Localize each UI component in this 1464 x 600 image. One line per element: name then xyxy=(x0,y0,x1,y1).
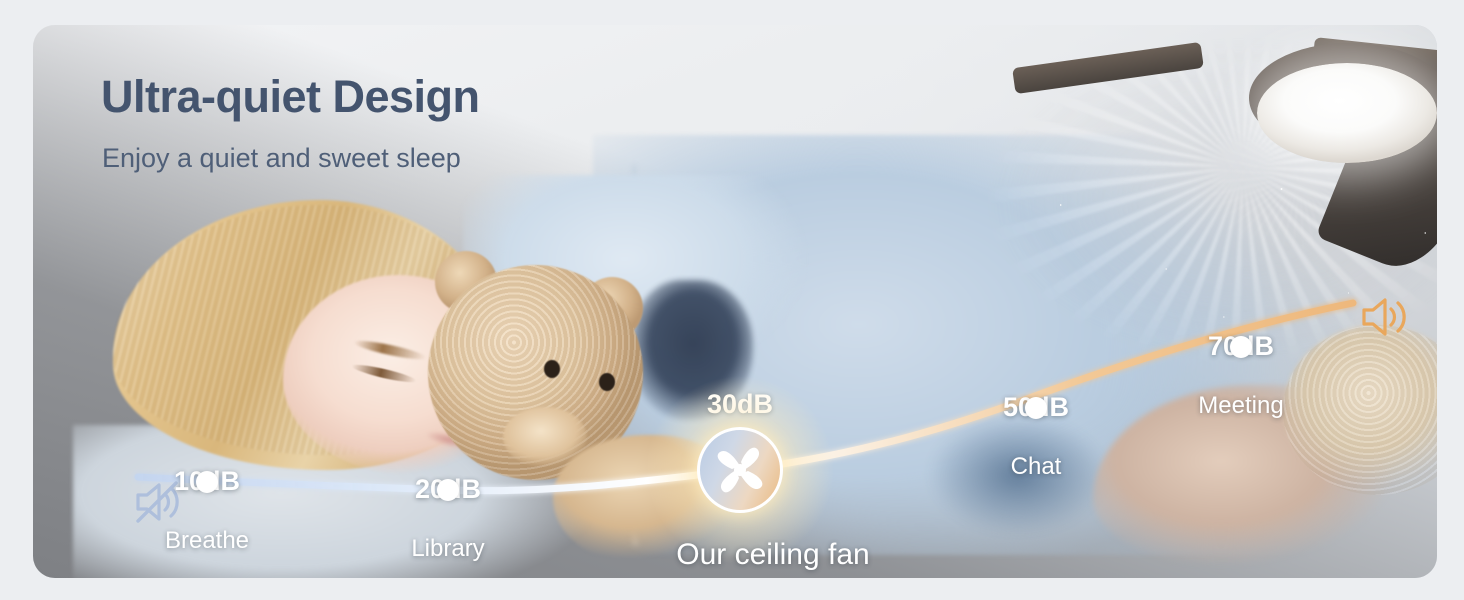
teddy-body xyxy=(553,435,743,565)
teddy-eye-right xyxy=(599,373,615,391)
fan-sparkles xyxy=(1003,145,1437,345)
page-title: Ultra-quiet Design xyxy=(101,71,480,123)
blanket-shadow xyxy=(913,405,1123,545)
promo-banner: 10dB Breathe 20dB Library 30dB xyxy=(0,0,1464,600)
content-card: 10dB Breathe 20dB Library 30dB xyxy=(33,25,1437,578)
page-subtitle: Enjoy a quiet and sweet sleep xyxy=(102,143,461,174)
child-pajama xyxy=(633,280,753,420)
ceiling-fan-photo xyxy=(1153,25,1437,265)
teddy-eye-left xyxy=(544,360,560,378)
